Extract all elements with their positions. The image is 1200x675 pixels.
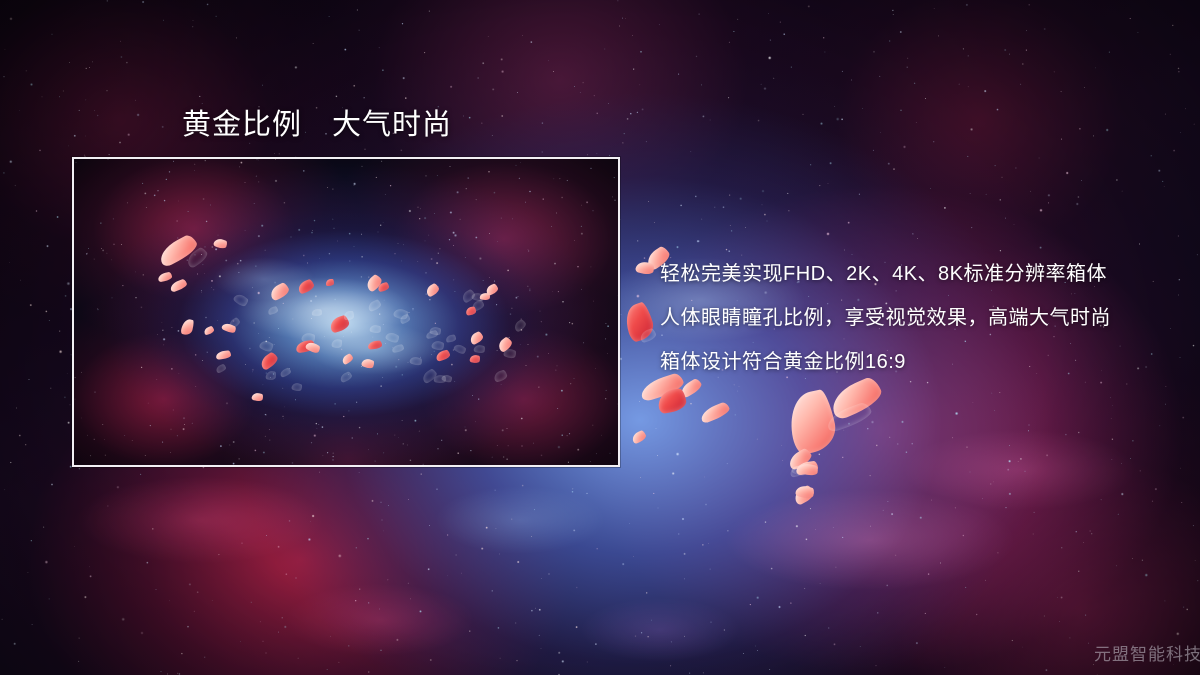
picture-frame bbox=[72, 157, 620, 467]
page-title: 黄金比例 大气时尚 bbox=[182, 101, 452, 143]
watermark: 元盟智能科技 bbox=[1094, 640, 1200, 665]
petal-shape bbox=[344, 311, 354, 320]
slide-canvas: 黄金比例 大气时尚 轻松完美实现FHD、2K、4K、8K标准分辨率箱体 人体眼睛… bbox=[0, 0, 1200, 675]
body-line-1: 轻松完美实现FHD、2K、4K、8K标准分辨率箱体 bbox=[660, 252, 1180, 296]
petal-shape bbox=[631, 430, 648, 445]
body-line-3: 箱体设计符合黄金比例16:9 bbox=[660, 340, 1180, 384]
petal-shape bbox=[326, 279, 334, 286]
petal-shape bbox=[699, 401, 732, 424]
body-text-block: 轻松完美实现FHD、2K、4K、8K标准分辨率箱体 人体眼睛瞳孔比例，享受视觉效… bbox=[660, 252, 1180, 384]
body-line-2: 人体眼睛瞳孔比例，享受视觉效果，高端大气时尚 bbox=[660, 296, 1180, 340]
